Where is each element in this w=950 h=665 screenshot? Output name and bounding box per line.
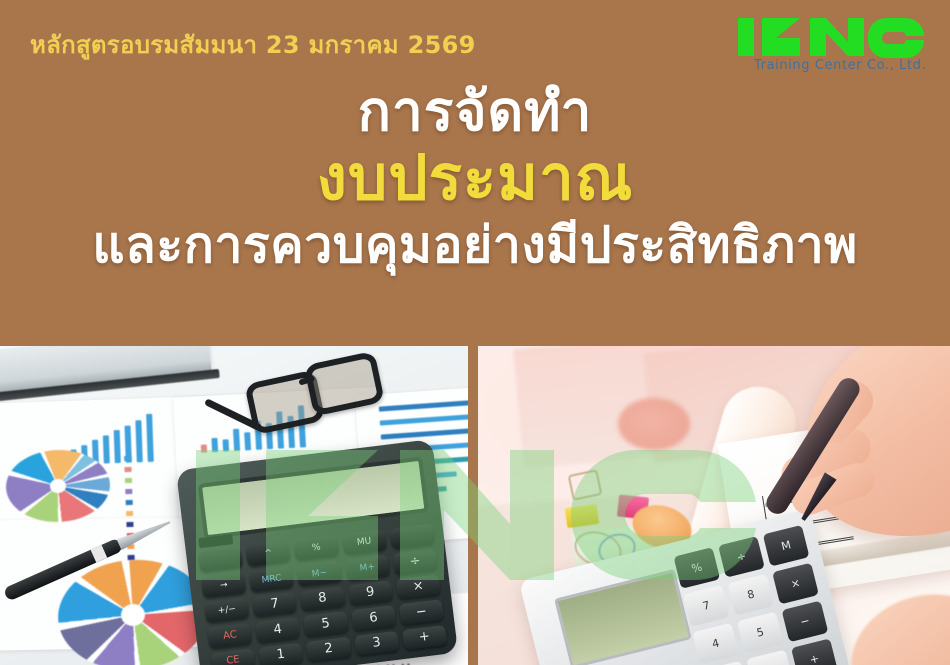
key2-4: 4 xyxy=(692,623,739,665)
key-plus-minus: +/− xyxy=(204,598,249,624)
key2-percent: % xyxy=(673,547,720,589)
key-ce: CE xyxy=(210,648,255,665)
course-date-line: หลักสูตรอบรมสัมมนา 23 มกราคม 2569 xyxy=(30,25,476,64)
key-1: 1 xyxy=(258,642,303,665)
key-m-plus: M+ xyxy=(345,555,390,581)
key-backspace: → xyxy=(201,572,246,598)
key-percent: % xyxy=(294,535,339,561)
calculator-keypad: ^ % MU → MRC M− M+ ÷ +/− 7 8 9 × AC 4 xyxy=(198,524,447,665)
key-3: 3 xyxy=(354,630,399,656)
key2-minus: − xyxy=(782,601,829,643)
calculator-display-right xyxy=(554,569,692,665)
photo-right-budget-writing: ⌐⌐ ⌐⌐⌐ ⌐⌐ ⌐⌐⌐⌐ % ÷ M 7 8 × 4 5 − 1 2 xyxy=(478,346,950,665)
key-4: 4 xyxy=(255,617,300,643)
title-line-3: และการควบคุมอย่างมีประสิทธิภาพ xyxy=(0,218,950,272)
key-8: 8 xyxy=(300,586,345,612)
key-5: 5 xyxy=(303,611,348,637)
key2-5: 5 xyxy=(737,612,784,654)
photo-strip: ▪▪▪ ▪▪ ▪▪▪▪ ▪▪▪ ▪▪ ▪▪▪▪ ▪▪ ▪▪▪▪ ▪▪▪▪ ▪▪ … xyxy=(0,346,950,665)
key2-m: M xyxy=(763,525,810,567)
key-mu: MU xyxy=(342,530,387,556)
key-mrc: MRC xyxy=(249,566,294,592)
key-6: 6 xyxy=(351,605,396,631)
brand-logo: Training Center Co., Ltd. xyxy=(736,16,926,80)
key-7: 7 xyxy=(252,592,297,618)
calculator-display xyxy=(198,456,429,539)
coins-icon xyxy=(618,398,690,450)
key-divide: ÷ xyxy=(392,549,437,575)
brand-logo-subtitle: Training Center Co., Ltd. xyxy=(754,58,926,73)
calculator-keypad-right: % ÷ M 7 8 × 4 5 − 1 2 + xyxy=(673,525,837,665)
key-m-minus: M− xyxy=(297,561,342,587)
key-9: 9 xyxy=(348,580,393,606)
key-multiply: × xyxy=(396,574,441,600)
key2-divide: ÷ xyxy=(718,536,765,578)
key-minus: − xyxy=(399,599,444,625)
desk-calculator-left: ^ % MU → MRC M− M+ ÷ +/− 7 8 9 × AC 4 xyxy=(176,439,458,665)
title-line-1: การจัดทำ xyxy=(0,82,950,141)
key2-8: 8 xyxy=(728,574,775,616)
key-ac: AC xyxy=(207,623,252,649)
key-plus: + xyxy=(402,625,447,651)
key-power: ^ xyxy=(246,541,291,567)
key-2: 2 xyxy=(306,636,351,662)
key2-7: 7 xyxy=(683,585,730,627)
poster-title: การจัดทำ งบประมาณ และการควบคุมอย่างมีประ… xyxy=(0,82,950,272)
title-line-2: งบประมาณ xyxy=(0,145,950,212)
solar-panel-icon xyxy=(198,534,233,548)
knc-logo-icon xyxy=(736,16,926,58)
key2-plus: + xyxy=(791,638,838,665)
key2-2: 2 xyxy=(746,650,793,665)
photo-left-finance-desk: ▪▪▪ ▪▪ ▪▪▪▪ ▪▪▪ ▪▪ ▪▪▪▪ ▪▪ ▪▪▪▪ ▪▪▪▪ ▪▪ … xyxy=(0,346,468,665)
header-banner: หลักสูตรอบรมสัมมนา 23 มกราคม 2569 Traini… xyxy=(0,0,950,346)
key2-multiply: × xyxy=(772,563,819,605)
poster-root: หลักสูตรอบรมสัมมนา 23 มกราคม 2569 Traini… xyxy=(0,0,950,665)
